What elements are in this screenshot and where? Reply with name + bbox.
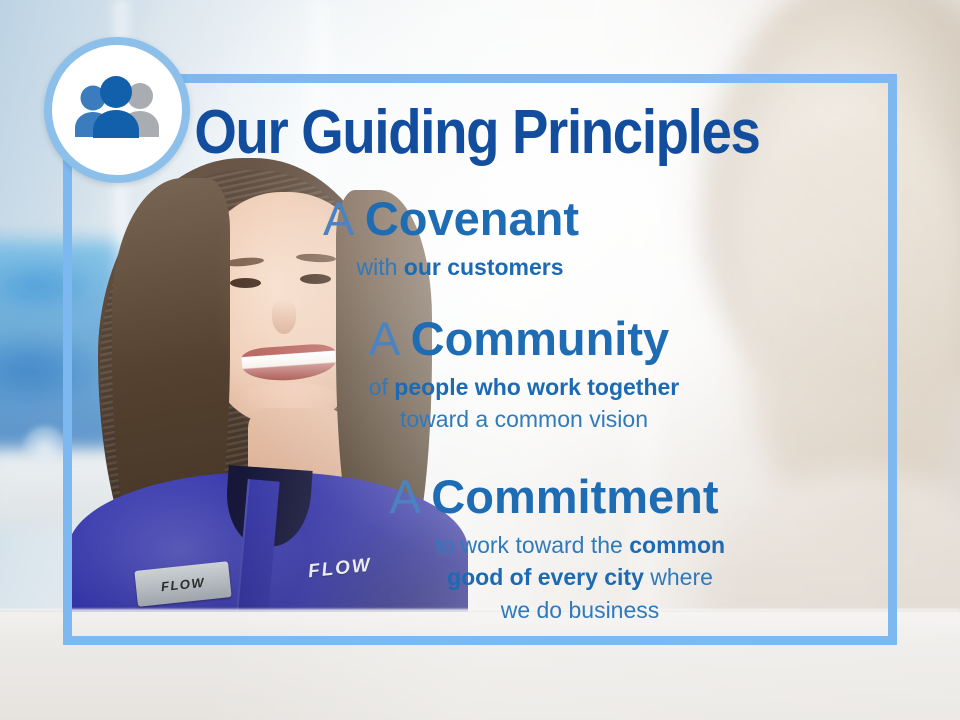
page-title: Our Guiding Principles	[113, 102, 842, 164]
principle-description-line: with our customers	[63, 251, 857, 284]
principle-description-line: good of every city where	[263, 561, 897, 594]
principle-description: with our customers	[63, 251, 897, 284]
principle-keyword: Community	[411, 312, 670, 365]
principle-article: A	[369, 312, 398, 365]
principle-description-line: toward a common vision	[151, 403, 897, 436]
principle-keyword: Covenant	[365, 192, 579, 245]
principle-description-line: of people who work together	[151, 371, 897, 404]
principle-heading: A Community	[63, 314, 897, 364]
graphic-canvas: FLOW FLOW Our	[0, 0, 960, 720]
principle-heading: A Covenant	[63, 194, 897, 244]
principle-block-commitment: A Commitment to work toward the common g…	[63, 472, 897, 627]
principle-keyword: Commitment	[431, 470, 718, 523]
principle-block-community: A Community of people who work together …	[63, 314, 897, 436]
text-overlay: Our Guiding Principles A Covenant with o…	[63, 74, 897, 645]
principle-description-line: to work toward the common	[263, 529, 897, 562]
principle-article: A	[323, 192, 352, 245]
principle-description: of people who work together toward a com…	[63, 371, 897, 436]
principle-description-line: we do business	[263, 594, 897, 627]
principle-heading: A Commitment	[63, 472, 897, 522]
principle-block-covenant: A Covenant with our customers	[63, 194, 897, 283]
principle-article: A	[389, 470, 418, 523]
principle-description: to work toward the common good of every …	[63, 529, 897, 627]
